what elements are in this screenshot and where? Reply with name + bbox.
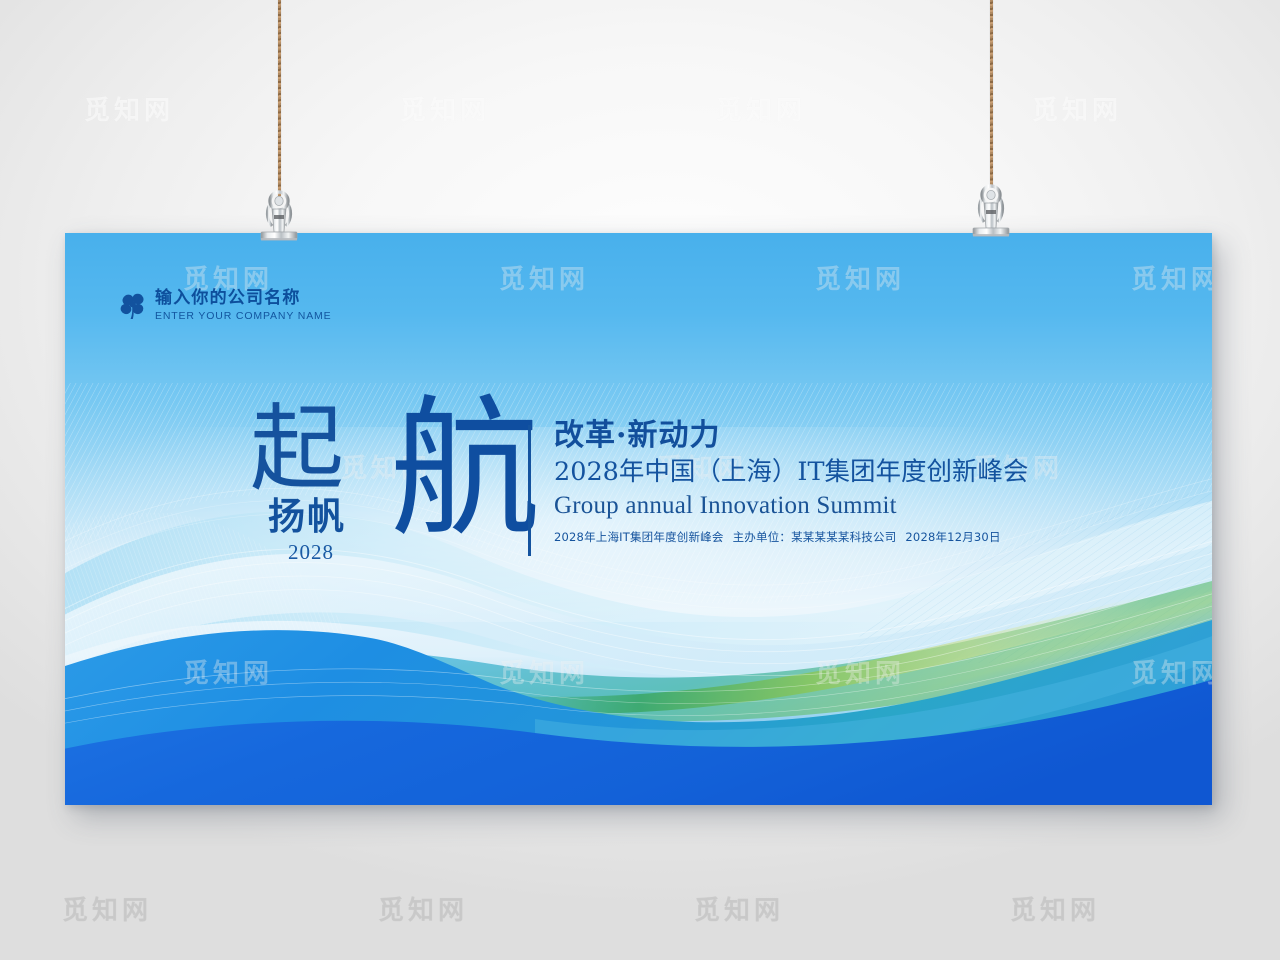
headline-subtext: 扬帆 — [268, 498, 346, 535]
company-name-en: ENTER YOUR COMPANY NAME — [155, 311, 332, 322]
vertical-divider — [528, 425, 531, 556]
watermark: 觅知网 — [378, 890, 468, 927]
hanging-rope-left — [278, 0, 281, 196]
poster-mockup-scene: 觅知网 觅知网 觅知网 觅知网 觅知网 觅知网 觅知网 觅知网 — [0, 0, 1280, 960]
watermark: 觅知网 — [694, 890, 784, 927]
meta-host-value: 某某某某某科技公司 — [791, 530, 896, 544]
binder-clip-left — [254, 189, 304, 241]
company-logo[interactable]: 输入你的公司名称 ENTER YOUR COMPANY NAME — [120, 290, 332, 322]
company-name-cn: 输入你的公司名称 — [155, 290, 332, 307]
conference-title-en: Group annual Innovation Summit — [554, 491, 1028, 521]
conference-meta-line: 2028年上海IT集团年度创新峰会主办单位：某某某某某科技公司2028年12月3… — [554, 529, 1028, 545]
conference-title-cn: 2028年中国（上海）IT集团年度创新峰会 — [554, 457, 1028, 488]
headline-char-qi: 起 — [250, 403, 344, 497]
watermark: 觅知网 — [400, 90, 490, 127]
meta-event: 2028年上海IT集团年度创新峰会 — [554, 530, 724, 544]
watermark: 觅知网 — [716, 90, 806, 127]
watermark: 觅知网 — [1010, 890, 1100, 927]
headline-char-hang: 航 — [390, 395, 540, 545]
watermark: 觅知网 — [1032, 90, 1122, 127]
event-details: 改革·新动力 2028年中国（上海）IT集团年度创新峰会 Group annua… — [554, 418, 1028, 545]
meta-host-label: 主办单位： — [733, 530, 792, 544]
meta-date: 2028年12月30日 — [905, 530, 1000, 544]
clover-flower-icon — [120, 292, 146, 320]
watermark: 觅知网 — [62, 890, 152, 927]
event-slogan: 改革·新动力 — [554, 418, 1028, 453]
headline-year: 2028 — [288, 540, 334, 565]
binder-clip-right — [966, 179, 1016, 231]
hanging-rope-right — [990, 0, 993, 186]
main-headline: 起 航 扬帆 2028 — [250, 403, 550, 573]
event-banner: 觅知网 觅知网 觅知网 觅知网 觅知网 觅知网 觅知网 觅知网 觅知网 觅知网 … — [65, 233, 1212, 805]
watermark: 觅知网 — [84, 90, 174, 127]
